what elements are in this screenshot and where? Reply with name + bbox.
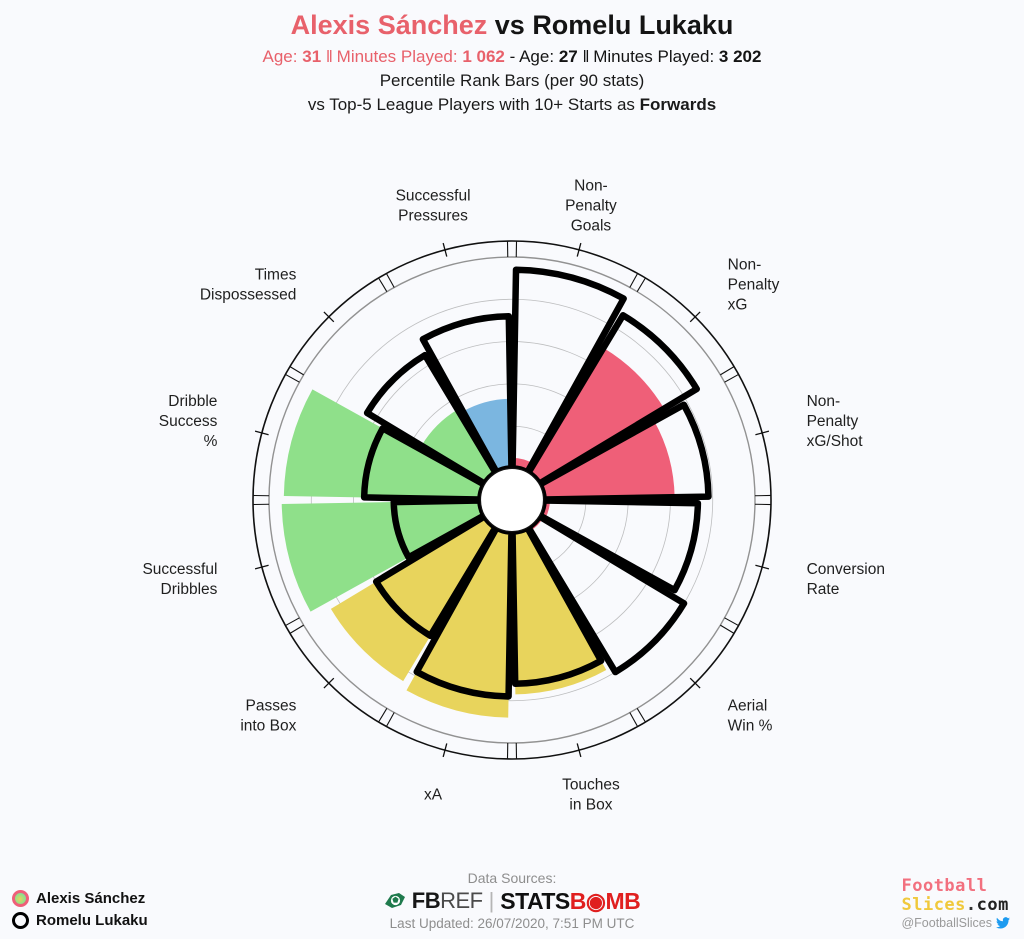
chart-legend: Alexis Sánchez Romelu Lukaku [12, 887, 148, 931]
category-label-non-penalty-xg: Non-PenaltyxG [728, 256, 780, 313]
slice-divider-spoke [290, 625, 304, 633]
category-label-passes-into-box: Passesinto Box [240, 698, 296, 735]
player-2-minutes-value: 3 202 [719, 47, 762, 66]
slice-divider-spoke [386, 713, 394, 727]
player-1-minutes-value: 1 062 [462, 47, 505, 66]
legend-label-player-1: Alexis Sánchez [36, 890, 145, 907]
meta-separator-1: ‖ [326, 47, 332, 66]
legend-item-player-1: Alexis Sánchez [12, 887, 148, 909]
slice-fill-touches-in-box[interactable] [513, 528, 607, 695]
player-2-age-value: 27 [559, 47, 578, 66]
brand-line-2: Slices.com [901, 896, 1010, 915]
slice-divider-spoke [720, 625, 734, 633]
title-vs-text: vs [495, 10, 525, 40]
chart-header: Alexis Sánchez vs Romelu Lukaku Age: 31 … [0, 0, 1024, 117]
category-label-successful-dribbles: SuccessfulDribbles [142, 561, 217, 598]
player-1-minutes-label: Minutes Played: [337, 47, 458, 66]
slice-divider-spoke [386, 273, 394, 287]
slice-divider-spoke [379, 708, 387, 722]
brand-word-com: com [977, 895, 1009, 915]
brand-word-football: Football [901, 876, 987, 896]
brand-twitter-handle-row: @FootballSlices [901, 915, 1010, 931]
slice-divider-spoke [285, 374, 299, 382]
player-1-age-label: Age: [263, 47, 298, 66]
chart-center-hole [480, 468, 543, 531]
pizza-chart-container: Non-PenaltyGoalsNon-PenaltyxGNon-Penalty… [0, 128, 1024, 848]
slice-divider-spoke [720, 367, 734, 375]
category-label-aerial-win-: AerialWin % [728, 698, 773, 735]
category-label-times-dispossessed: TimesDispossessed [200, 266, 297, 303]
slice-divider-spoke [285, 618, 299, 626]
slice-divider-spoke [637, 278, 645, 292]
hollow-ring-icon [12, 912, 29, 929]
comparison-position: Forwards [640, 95, 717, 114]
slice-divider-spoke [725, 374, 739, 382]
player-2-name: Romelu Lukaku [532, 10, 733, 40]
multi-color-ring-icon [12, 890, 29, 907]
slice-divider-spoke [637, 708, 645, 722]
chart-subtitle-rank: Percentile Rank Bars (per 90 stats) [0, 69, 1024, 93]
slice-divider-spoke [725, 618, 739, 626]
comparison-prefix: vs Top-5 League Players with 10+ Starts … [308, 95, 640, 114]
fbref-logo-primary: FB [412, 888, 440, 914]
category-label-dribble-success-: DribbleSuccess% [159, 393, 218, 450]
footballslices-branding: Football Slices.com @FootballSlices [901, 877, 1010, 931]
logo-divider: | [489, 888, 495, 914]
statsbomb-logo-primary: STATS [500, 888, 569, 915]
chart-subtitle-comparison: vs Top-5 League Players with 10+ Starts … [0, 93, 1024, 117]
player-meta-line: Age: 31 ‖ Minutes Played: 1 062 - Age: 2… [0, 45, 1024, 69]
last-updated-text: Last Updated: 26/07/2020, 7:51 PM UTC [332, 915, 692, 933]
legend-label-player-2: Romelu Lukaku [36, 912, 148, 929]
meta-separator-2: ‖ [582, 47, 588, 66]
statsbomb-logo-secondary: B◉MB [570, 888, 640, 915]
brand-dot: . [966, 895, 977, 915]
player-2-minutes-label: Minutes Played: [593, 47, 714, 66]
slice-divider-spoke [379, 278, 387, 292]
category-label-xa: xA [424, 787, 443, 804]
category-label-non-penalty-goals: Non-PenaltyGoals [565, 177, 617, 234]
slice-divider-spoke [290, 367, 304, 375]
meta-dash: - [510, 47, 516, 66]
slice-divider-spoke [630, 273, 638, 287]
twitter-bird-icon [996, 917, 1010, 929]
slice-divider-spoke [630, 713, 638, 727]
pizza-chart: Non-PenaltyGoalsNon-PenaltyxGNon-Penalty… [0, 128, 1024, 848]
brand-word-slices: Slices [901, 895, 965, 915]
fbref-logo-secondary: REF [440, 888, 483, 914]
brand-line-1: Football [901, 877, 1010, 896]
fbref-soccer-icon [384, 891, 410, 911]
source-logos-row: FBREF | STATSB◉MB [332, 888, 692, 914]
player-1-name: Alexis Sánchez [291, 10, 488, 40]
legend-item-player-2: Romelu Lukaku [12, 909, 148, 931]
chart-footer: Alexis Sánchez Romelu Lukaku Data Source… [0, 847, 1024, 939]
category-label-non-penalty-xg-shot: Non-PenaltyxG/Shot [807, 393, 864, 450]
brand-twitter-handle: @FootballSlices [901, 915, 992, 931]
category-label-touches-in-box: Touchesin Box [562, 777, 620, 814]
player-2-age-label: Age: [519, 47, 554, 66]
sanchez-slices-layer [282, 348, 675, 718]
player-1-age-value: 31 [302, 47, 321, 66]
page-title: Alexis Sánchez vs Romelu Lukaku [0, 8, 1024, 42]
category-label-conversion-rate: ConversionRate [807, 561, 885, 598]
category-label-successful-pressures: SuccessfulPressures [396, 187, 471, 224]
data-sources-block: Data Sources: FBREF | STATSB◉MB Last Upd… [332, 869, 692, 933]
data-sources-caption: Data Sources: [332, 869, 692, 887]
